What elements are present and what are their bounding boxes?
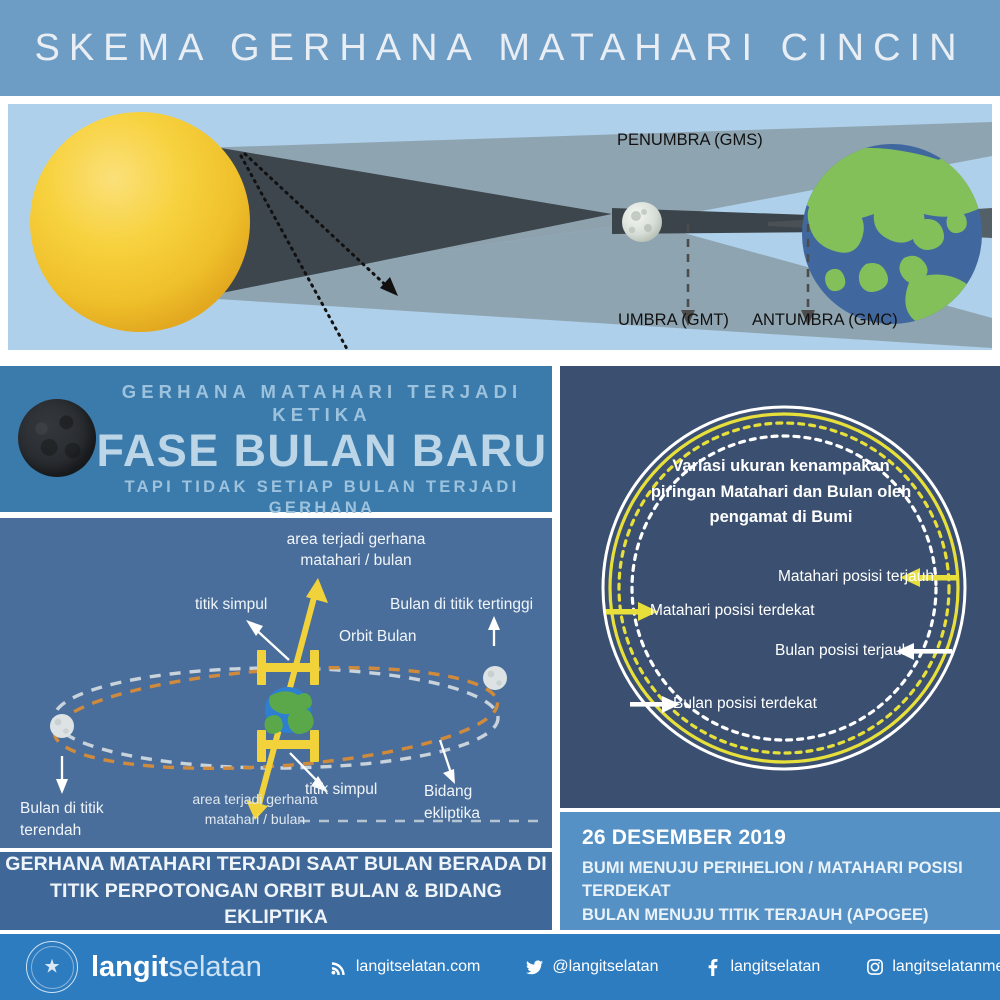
eclipse-area-bottom-line2: matahari / bulan	[175, 810, 335, 830]
infographic-page: SKEMA GERHANA MATAHARI CINCIN	[0, 0, 1000, 1000]
sun-far-label: Matahari posisi terjauh	[778, 568, 934, 586]
logo-glyph: ★	[43, 958, 60, 977]
eclipse-area-bottom-label: area terjadi gerhana matahari / bulan	[175, 790, 335, 829]
eclipse-geometry-diagram: PENUMBRA (GMS) UMBRA (GMT) ANTUMBRA (GMC…	[8, 104, 992, 350]
phase-line-3: TAPI TIDAK SETIAP BULAN TERJADI GERHANA	[96, 477, 548, 520]
social-link-instagram[interactable]: langitselatanmedia	[866, 958, 1000, 976]
new-moon-phase-panel: GERHANA MATAHARI TERJADI KETIKA FASE BUL…	[0, 366, 552, 512]
ring-title-line2: piringan Matahari dan Bulan oleh	[616, 480, 946, 506]
earth-small	[265, 687, 314, 734]
social-links: langitselatan.com @langitselatan langits…	[330, 958, 1000, 976]
caption-line-1: GERHANA MATAHARI TERJADI SAAT BULAN BERA…	[5, 851, 546, 878]
penumbra-label: PENUMBRA (GMS)	[617, 131, 763, 150]
moon-lowest-point	[50, 714, 74, 738]
eclipse-axis-arrowhead-top	[306, 578, 328, 603]
moon-orbit-label: Orbit Bulan	[339, 628, 417, 646]
eclipse-area-top-line1: area terjadi gerhana	[256, 530, 456, 551]
social-link-facebook[interactable]: langitselatan	[704, 958, 820, 976]
moon-far-label: Bulan posisi terjauh	[775, 642, 910, 660]
instagram-icon	[866, 959, 883, 976]
ring-title-line3: pengamat di Bumi	[616, 505, 946, 531]
node-top-label: titik simpul	[195, 596, 267, 614]
eclipse-area-top-label: area terjadi gerhana matahari / bulan	[256, 530, 456, 572]
date-detail-line2: BULAN MENUJU TITIK TERJAUH (APOGEE)	[582, 904, 1000, 927]
moon	[622, 202, 662, 242]
moon-highest-label: Bulan di titik tertinggi	[390, 596, 533, 614]
ecliptic-plane-label: Bidang ekliptika	[424, 781, 480, 824]
instagram-label: langitselatanmedia	[892, 958, 1000, 976]
rss-icon	[330, 959, 347, 976]
website-label: langitselatan.com	[356, 958, 481, 976]
eclipse-date-detail: BUMI MENUJU PERIHELION / MATAHARI POSISI…	[582, 857, 1000, 927]
eclipse-area-top-line2: matahari / bulan	[256, 551, 456, 572]
brand-lockup[interactable]: ★ langitselatan	[26, 941, 262, 993]
node-marker-top	[257, 650, 319, 685]
moon-near-label: Bulan posisi terdekat	[673, 695, 817, 713]
footer-bar: ★ langitselatan langitselatan.com	[0, 934, 1000, 1000]
moon-low-arrowhead	[56, 779, 68, 794]
twitter-label: @langitselatan	[552, 958, 658, 976]
moon-high-arrowhead	[488, 616, 500, 630]
brand-wordmark: langitselatan	[91, 953, 262, 982]
twitter-icon	[526, 959, 543, 976]
page-title: SKEMA GERHANA MATAHARI CINCIN	[34, 27, 965, 70]
moon-lowest-line2: terendah	[20, 820, 104, 842]
brand-word-light: selatan	[168, 951, 262, 983]
eclipse-area-bottom-line1: area terjadi gerhana	[175, 790, 335, 810]
brand-word-bold: langit	[91, 951, 168, 983]
ecliptic-plane-line1: Bidang	[424, 781, 480, 803]
langitselatan-logo-icon: ★	[26, 941, 78, 993]
sun-near-label: Matahari posisi terdekat	[650, 602, 815, 620]
eclipse-caption-panel: GERHANA MATAHARI TERJADI SAAT BULAN BERA…	[0, 852, 552, 930]
moon-lowest-label: Bulan di titik terendah	[20, 798, 104, 843]
moon-highest-point	[483, 666, 507, 690]
eclipse-date-panel: 26 DESEMBER 2019 BUMI MENUJU PERIHELION …	[560, 812, 1000, 930]
social-link-twitter[interactable]: @langitselatan	[526, 958, 658, 976]
node-marker-bottom	[257, 730, 319, 762]
caption-line-2: TITIK PERPOTONGAN ORBIT BULAN & BIDANG E…	[0, 878, 552, 932]
moon-orbit-diagram-panel: area terjadi gerhana matahari / bulan ti…	[0, 518, 552, 848]
phase-line-2: FASE BULAN BARU	[96, 427, 548, 474]
facebook-icon	[704, 959, 721, 976]
eclipse-date: 26 DESEMBER 2019	[582, 826, 1000, 850]
ring-title-line1: Variasi ukuran kenampakan	[616, 454, 946, 480]
antumbra-label: ANTUMBRA (GMC)	[752, 311, 898, 330]
moon-lowest-line1: Bulan di titik	[20, 798, 104, 820]
sun	[30, 112, 250, 332]
new-moon-icon	[18, 399, 96, 477]
header-bar: SKEMA GERHANA MATAHARI CINCIN	[0, 0, 1000, 96]
umbra-label: UMBRA (GMT)	[618, 311, 729, 330]
ecliptic-plane-line2: ekliptika	[424, 803, 480, 825]
date-detail-line1: BUMI MENUJU PERIHELION / MATAHARI POSISI…	[582, 857, 1000, 904]
social-link-website[interactable]: langitselatan.com	[330, 958, 481, 976]
ring-panel-title: Variasi ukuran kenampakan piringan Matah…	[616, 454, 946, 531]
phase-line-1: GERHANA MATAHARI TERJADI KETIKA	[96, 380, 548, 426]
apparent-size-variation-panel: Variasi ukuran kenampakan piringan Matah…	[560, 366, 1000, 808]
facebook-label: langitselatan	[730, 958, 820, 976]
